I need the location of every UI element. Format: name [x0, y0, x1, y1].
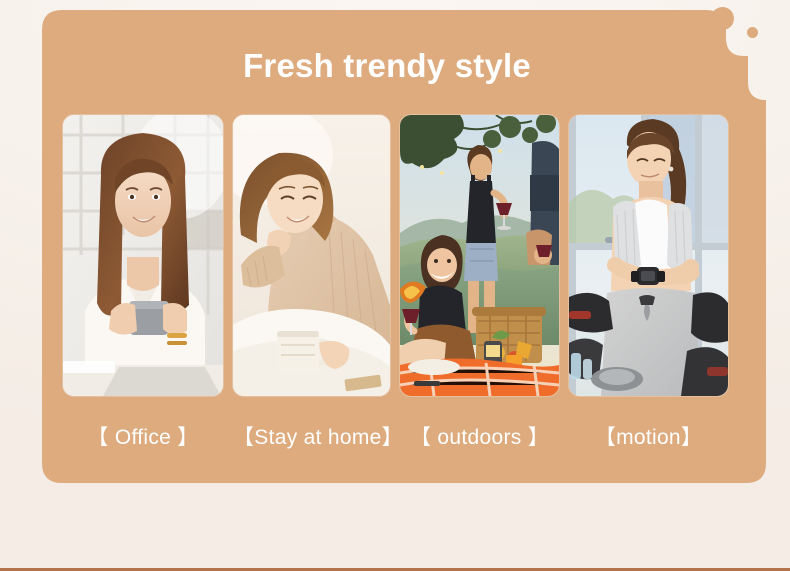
caption-row: 【 Office 】 【Stay at home】 【 outdoors 】 【…	[63, 415, 728, 461]
caption-stay-at-home: 【Stay at home】	[233, 415, 390, 461]
banner-background: Fresh trendy style	[0, 0, 790, 571]
photo-strip	[63, 115, 728, 396]
outdoors-photo-illustration	[400, 115, 559, 396]
photo-panel-outdoors[interactable]	[400, 115, 559, 396]
caption-outdoors: 【 outdoors 】	[400, 415, 559, 461]
caption-office: 【 Office 】	[63, 415, 223, 461]
decorative-dot-large	[711, 7, 734, 30]
caption-motion: 【motion】	[569, 415, 728, 461]
home-photo-illustration	[233, 115, 390, 396]
motion-photo-illustration	[569, 115, 728, 396]
decorative-dot-small	[747, 27, 758, 38]
photo-panel-office[interactable]	[63, 115, 223, 396]
photo-panel-motion[interactable]	[569, 115, 728, 396]
photo-panel-home[interactable]	[233, 115, 390, 396]
page-title: Fresh trendy style	[42, 44, 732, 88]
office-photo-illustration	[63, 115, 223, 396]
